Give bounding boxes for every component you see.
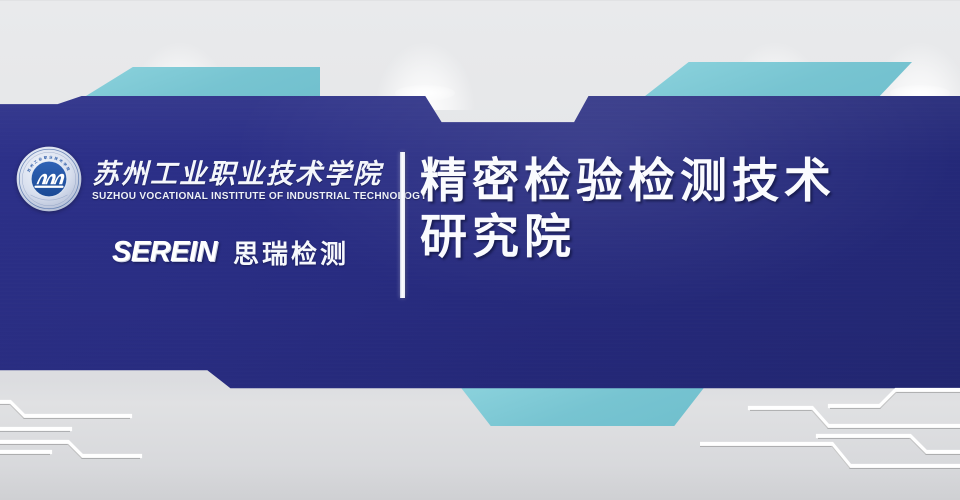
partner-brand-row: SEREIN 思瑞检测 <box>16 234 398 271</box>
school-identity-block: 苏州工业职业技术学院 苏州工业职业技术学院 SUZHOU VOCATIONAL … <box>16 146 398 271</box>
signage-scene: 苏州工业职业技术学院 苏州工业职业技术学院 SUZHOU VOCATIONAL … <box>0 0 960 500</box>
siit-school-emblem-icon: 苏州工业职业技术学院 <box>16 146 82 212</box>
institute-title: 精密检验检测技术 研究院 <box>420 154 950 267</box>
serein-brand-en: SEREIN <box>112 236 217 269</box>
institute-title-line2: 研究院 <box>420 210 950 266</box>
ceiling-spotlight-2 <box>350 0 500 110</box>
school-name-group: 苏州工业职业技术学院 SUZHOU VOCATIONAL INSTITUTE O… <box>92 156 427 202</box>
school-logo-row: 苏州工业职业技术学院 苏州工业职业技术学院 SUZHOU VOCATIONAL … <box>16 146 398 212</box>
wall-seam <box>0 0 960 1</box>
school-name-en: SUZHOU VOCATIONAL INSTITUTE OF INDUSTRIA… <box>92 191 427 202</box>
board-content: 苏州工业职业技术学院 苏州工业职业技术学院 SUZHOU VOCATIONAL … <box>0 96 960 396</box>
institute-title-line1: 精密检验检测技术 <box>420 154 950 210</box>
vertical-divider-bar <box>400 152 405 298</box>
serein-brand-cn: 思瑞检测 <box>233 234 349 271</box>
school-name-cn: 苏州工业职业技术学院 <box>92 160 427 188</box>
